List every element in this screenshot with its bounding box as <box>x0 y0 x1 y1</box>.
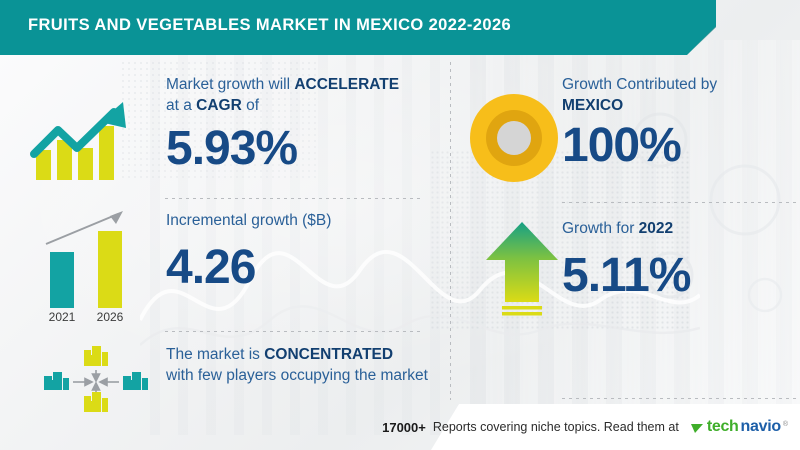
contribution-text-1: Growth Contributed by <box>562 76 717 93</box>
logo-trademark: ® <box>783 421 788 428</box>
right-divider-2 <box>562 398 797 399</box>
bar-label-2026: 2026 <box>97 310 124 324</box>
technavio-logo[interactable]: tech navio ® <box>690 418 788 436</box>
up-arrow-icon <box>484 220 560 320</box>
left-divider-2 <box>165 331 420 332</box>
incremental-growth-label: Incremental growth ($B) <box>166 210 428 231</box>
footer: 17000+ Reports covering niche topics. Re… <box>431 404 800 450</box>
incremental-growth-value: 4.26 <box>166 240 255 295</box>
cagr-text-2: at a <box>166 97 196 114</box>
header: FRUITS AND VEGETABLES MARKET IN MEXICO 2… <box>0 0 800 55</box>
concentration-text-2: with few players occupying the market <box>166 367 428 384</box>
report-count: 17000+ <box>382 420 426 435</box>
growth-year-text-1: Growth for <box>562 220 639 237</box>
logo-text-tech: tech <box>707 418 739 436</box>
bar-label-2021: 2021 <box>49 310 76 324</box>
concentration-text-1: The market is <box>166 346 264 363</box>
column-divider <box>450 62 451 400</box>
logo-text-navio: navio <box>741 418 781 436</box>
two-bar-comparison-icon: 2021 2026 <box>24 206 146 326</box>
growth-bar-chart-arrow-icon <box>22 92 148 184</box>
growth-year-strong: 2022 <box>639 220 673 237</box>
cagr-text-3: of <box>242 97 259 114</box>
concentration-description: The market is CONCENTRATED with few play… <box>166 344 434 386</box>
cagr-description: Market growth will ACCELERATE at a CAGR … <box>166 74 428 116</box>
right-divider-1 <box>562 202 797 203</box>
footer-text: Reports covering niche topics. Read them… <box>433 420 679 434</box>
contribution-label: Growth Contributed byMEXICO <box>562 74 792 116</box>
concentration-strong-1: CONCENTRATED <box>264 346 393 363</box>
left-divider-1 <box>165 198 420 199</box>
contribution-strong: MEXICO <box>562 97 623 114</box>
cagr-value: 5.93% <box>166 121 297 176</box>
infographic-canvas: FRUITS AND VEGETABLES MARKET IN MEXICO 2… <box>0 0 800 450</box>
cagr-strong-1: ACCELERATE <box>294 76 399 93</box>
growth-year-value: 5.11% <box>562 248 690 303</box>
contribution-value: 100% <box>562 118 681 173</box>
donut-chart-icon <box>468 92 560 184</box>
growth-year-label: Growth for 2022 <box>562 218 792 239</box>
market-concentration-buildings-icon <box>40 344 152 418</box>
cagr-strong-2: CAGR <box>196 97 242 114</box>
technavio-arrow-icon <box>690 420 705 435</box>
page-title: FRUITS AND VEGETABLES MARKET IN MEXICO 2… <box>28 16 511 35</box>
cagr-text-1: Market growth will <box>166 76 294 93</box>
